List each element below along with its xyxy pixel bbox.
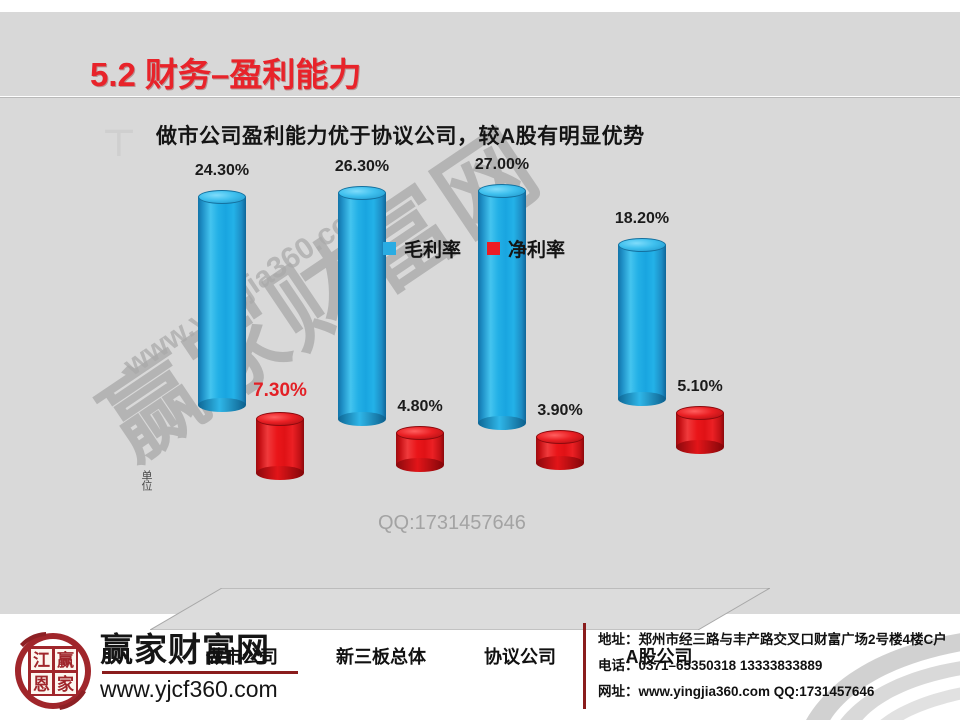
legend-swatch-red-icon [487, 242, 500, 255]
bar-bottom-ellipse [396, 458, 444, 472]
title-band: 5.2 财务–盈利能力 [0, 12, 960, 96]
bar-bottom-ellipse [256, 466, 304, 480]
bar-group-0: 24.30% 7.30% [198, 190, 328, 520]
bar-top-ellipse [256, 412, 304, 426]
bar-net-0[interactable]: 7.30% [256, 412, 304, 480]
bar-gross-0[interactable]: 24.30% [198, 190, 246, 412]
top-white-strip [0, 0, 960, 12]
bar-value-gross-3: 18.20% [615, 210, 669, 228]
legend-label-gross-margin: 毛利率 [404, 235, 461, 262]
bar-value-gross-1: 26.30% [335, 158, 389, 176]
bar-body [198, 197, 246, 405]
legend-item-net-margin: 净利率 [487, 235, 565, 262]
legend-swatch-blue-icon [383, 242, 396, 255]
company-seal-icon: 江 赢 恩 家 [12, 630, 94, 712]
bar-body [338, 193, 386, 419]
x-axis-category-3: A股公司 [626, 643, 693, 669]
svg-text:赢: 赢 [57, 650, 74, 671]
bar-value-net-3: 5.10% [677, 378, 722, 396]
bar-top-ellipse [676, 406, 724, 420]
bar-body [618, 245, 666, 399]
bar-bottom-ellipse [198, 398, 246, 412]
bar-top-ellipse [198, 190, 246, 204]
bar-top-ellipse [478, 184, 526, 198]
bar-top-ellipse [618, 238, 666, 252]
bar-value-net-1: 4.80% [397, 398, 442, 416]
x-axis-category-2: 协议公司 [484, 643, 556, 669]
svg-text:家: 家 [57, 674, 74, 695]
footer-brand-rule [102, 671, 298, 674]
chart-plot-area: 24.30% 7.30% 26.30% [0, 98, 960, 598]
bar-body [478, 191, 526, 423]
bar-value-gross-0: 24.30% [195, 162, 249, 180]
bar-net-2[interactable]: 3.90% [536, 430, 584, 470]
profitability-bar-chart: 毛利率 净利率 单位 24.30% [0, 98, 960, 598]
svg-text:恩: 恩 [33, 675, 50, 695]
bar-top-ellipse [396, 426, 444, 440]
bar-value-net-2: 3.90% [537, 402, 582, 420]
bar-bottom-ellipse [478, 416, 526, 430]
bar-value-gross-2: 27.00% [475, 156, 529, 174]
x-axis-category-0: 做市公司 [206, 643, 278, 669]
bar-gross-1[interactable]: 26.30% [338, 186, 386, 426]
slide-canvas: 5.2 财务–盈利能力 赢家财富网 www.yingjia360.com 丅 做… [0, 0, 960, 720]
page-title: 5.2 财务–盈利能力 [90, 48, 361, 96]
bar-top-ellipse [536, 430, 584, 444]
bar-net-1[interactable]: 4.80% [396, 426, 444, 472]
bar-gross-2[interactable]: 27.00% [478, 184, 526, 430]
bar-bottom-ellipse [536, 456, 584, 470]
footer-brand-url[interactable]: www.yjcf360.com [100, 676, 298, 703]
bar-body [256, 419, 304, 473]
bar-bottom-ellipse [338, 412, 386, 426]
bar-gross-3[interactable]: 18.20% [618, 238, 666, 406]
bar-value-net-0: 7.30% [253, 380, 307, 402]
bar-net-3[interactable]: 5.10% [676, 406, 724, 454]
svg-text:江: 江 [33, 651, 50, 671]
bar-top-ellipse [338, 186, 386, 200]
chart-legend: 毛利率 净利率 [383, 235, 565, 262]
bar-group-3: 18.20% 5.10% [618, 238, 748, 538]
x-axis-category-1: 新三板总体 [336, 643, 426, 669]
footer-vertical-divider [583, 623, 586, 709]
contact-label-website: 网址： [598, 684, 639, 699]
bar-bottom-ellipse [618, 392, 666, 406]
legend-item-gross-margin: 毛利率 [383, 235, 461, 262]
contact-line-website: 网址：www.yingjia360.com QQ:1731457646 [598, 679, 947, 705]
legend-label-net-margin: 净利率 [508, 235, 565, 262]
bar-bottom-ellipse [676, 440, 724, 454]
contact-value-website[interactable]: www.yingjia360.com QQ:1731457646 [639, 684, 875, 699]
